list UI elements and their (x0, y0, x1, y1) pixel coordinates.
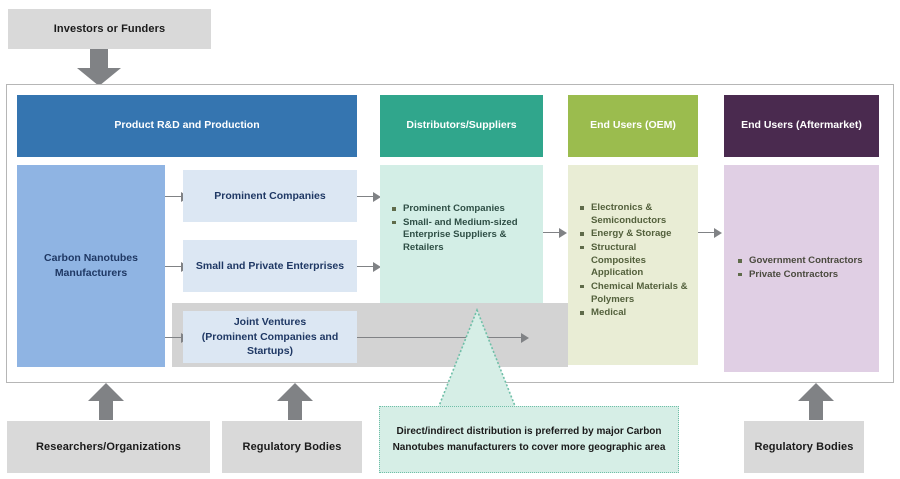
list-item: Chemical Materials & Polymers (580, 281, 690, 306)
value-chain-diagram: Investors or Funders Product R&D and Pro… (0, 0, 900, 479)
list-item: Private Contractors (738, 269, 871, 282)
sub-box-small-private-enterprises: Small and Private Enterprises (183, 240, 357, 292)
column-header-product-rnd: Product R&D and Production (17, 95, 357, 157)
callout-distribution-note: Direct/indirect distribution is preferre… (379, 406, 679, 473)
list-item: Government Contractors (738, 255, 871, 268)
column-header-end-users-oem: End Users (OEM) (568, 95, 698, 157)
arrow-head-joint-ventures-to-oem-icon (521, 333, 529, 343)
manufacturers-label-line1: Carbon Nanotubes (44, 251, 138, 266)
arrow-head-distributors-to-oem-icon (559, 228, 567, 238)
investors-or-funders-box: Investors or Funders (8, 9, 211, 49)
callout-text: Direct/indirect distribution is preferre… (390, 424, 668, 455)
column-header-product-rnd-label: Product R&D and Production (114, 119, 259, 132)
column-body-end-users-oem: Electronics & Semiconductors Energy & St… (568, 165, 698, 365)
bottom-box-regulatory-left-label: Regulatory Bodies (243, 441, 342, 453)
list-item: Energy & Storage (580, 228, 690, 241)
joint-ventures-label-line1: Joint Ventures (234, 315, 306, 330)
column-header-distributors: Distributors/Suppliers (380, 95, 543, 157)
column-body-distributors: Prominent Companies Small- and Medium-si… (380, 165, 543, 303)
carbon-nanotubes-manufacturers-box: Carbon Nanotubes Manufacturers (17, 165, 165, 367)
bottom-box-researchers-label: Researchers/Organizations (36, 441, 181, 453)
list-item: Structural Composites Application (580, 242, 690, 280)
arrow-down-investors-icon (76, 49, 122, 87)
bottom-box-regulatory-right-label: Regulatory Bodies (755, 441, 854, 453)
arrow-up-regulatory-bodies-right-icon (797, 383, 835, 421)
aftermarket-list: Government Contractors Private Contracto… (738, 255, 871, 281)
column-header-end-users-oem-label: End Users (OEM) (590, 119, 676, 132)
column-header-distributors-label: Distributors/Suppliers (406, 119, 516, 132)
joint-ventures-label-line3: Startups) (247, 344, 293, 359)
list-item: Medical (580, 307, 690, 320)
list-item: Prominent Companies (392, 203, 533, 216)
sub-box-prominent-companies: Prominent Companies (183, 170, 357, 222)
joint-ventures-label-line2: (Prominent Companies and (202, 330, 339, 345)
sub-box-small-private-enterprises-label: Small and Private Enterprises (196, 259, 344, 274)
investors-or-funders-label: Investors or Funders (54, 23, 165, 35)
column-body-end-users-aftermarket: Government Contractors Private Contracto… (724, 165, 879, 372)
manufacturers-label-line2: Manufacturers (55, 266, 127, 281)
bottom-box-regulatory-bodies-right: Regulatory Bodies (744, 421, 864, 473)
sub-box-joint-ventures: Joint Ventures (Prominent Companies and … (183, 311, 357, 363)
bottom-box-researchers-organizations: Researchers/Organizations (7, 421, 210, 473)
column-header-end-users-aftermarket-label: End Users (Aftermarket) (741, 119, 862, 132)
list-item: Small- and Medium-sized Enterprise Suppl… (392, 217, 533, 255)
arrow-head-oem-to-aftermarket-icon (714, 228, 722, 238)
oem-list: Electronics & Semiconductors Energy & St… (580, 202, 690, 320)
distributors-list: Prominent Companies Small- and Medium-si… (392, 203, 533, 255)
sub-box-prominent-companies-label: Prominent Companies (214, 189, 325, 204)
bottom-box-regulatory-bodies-left: Regulatory Bodies (222, 421, 362, 473)
list-item: Electronics & Semiconductors (580, 202, 690, 227)
arrow-up-regulatory-bodies-left-icon (276, 383, 314, 421)
column-header-end-users-aftermarket: End Users (Aftermarket) (724, 95, 879, 157)
arrow-up-researchers-icon (87, 383, 125, 421)
callout-pointer-icon (435, 308, 519, 413)
